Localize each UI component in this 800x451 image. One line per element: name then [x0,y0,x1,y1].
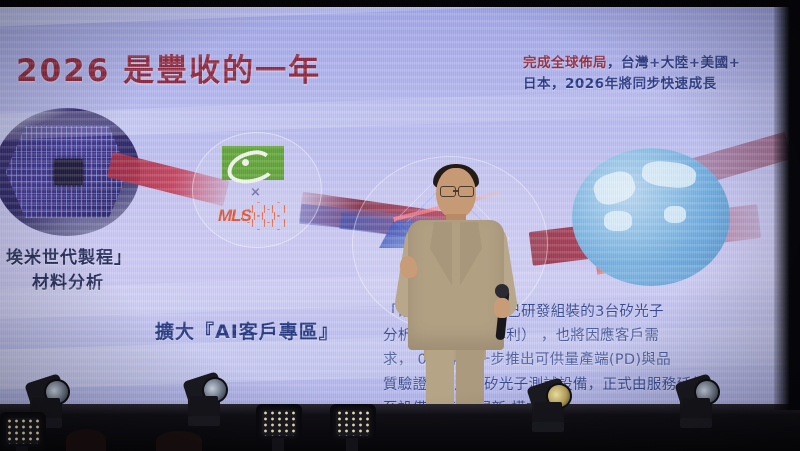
light-stand [16,446,28,451]
note-global-layout: 完成全球佈局，台灣+大陸+美國+ 日本，2026年將同步快速成長 [523,53,791,95]
frame-edge-right [774,0,800,410]
light-yoke [534,402,562,424]
led-par-light [330,404,376,442]
nvidia-logo-icon [222,146,284,180]
light-yoke [682,398,710,420]
globe-landmass [604,211,632,230]
glasses-bridge [453,190,459,192]
partner-logos-circle: × MLS [192,132,322,248]
slide-title: 2026 是豐收的一年 [16,45,321,90]
note-process-line2: 材料分析 [6,271,216,296]
note-global-line2: 日本，2026年將同步快速成長 [523,76,717,92]
led-array [262,410,296,436]
globe-landmass [664,206,686,223]
photo-scene: × MLS 2026 是豐收的一年 [0,0,800,451]
led-par-light [256,404,302,442]
note-ai-zone: 擴大『AI客戶專區』 [155,317,339,344]
note-global-line1-rest: ，台灣+大陸+美國+ [607,55,740,71]
presenter-jacket [408,220,504,350]
note-process-line1: 埃米世代製程」 [6,248,132,268]
frame-edge-top [0,0,800,7]
light-stand [346,438,358,451]
note-process: 埃米世代製程」 材料分析 [6,246,216,295]
wafer-chip-photo [0,108,140,236]
light-base [532,422,564,432]
nvidia-eye-dot [242,159,249,166]
light-band [0,6,800,29]
audience-head [66,429,106,451]
light-base [680,418,712,428]
microphone-capsule [495,284,509,298]
mls-logo-icon: MLS [218,200,298,234]
light-base [188,416,220,426]
light-stand [272,438,284,451]
presenter-right-hand [494,298,510,318]
chip-core [54,159,83,185]
world-globe-graphic [572,148,730,286]
logo-separator-x: × [250,185,261,200]
light-yoke [190,396,218,418]
led-array [336,410,370,436]
note-global-highlight: 完成全球佈局 [523,55,607,71]
audience-head [156,431,202,451]
glasses-icon [458,186,474,197]
led-array [6,418,40,444]
led-par-light [0,412,46,450]
